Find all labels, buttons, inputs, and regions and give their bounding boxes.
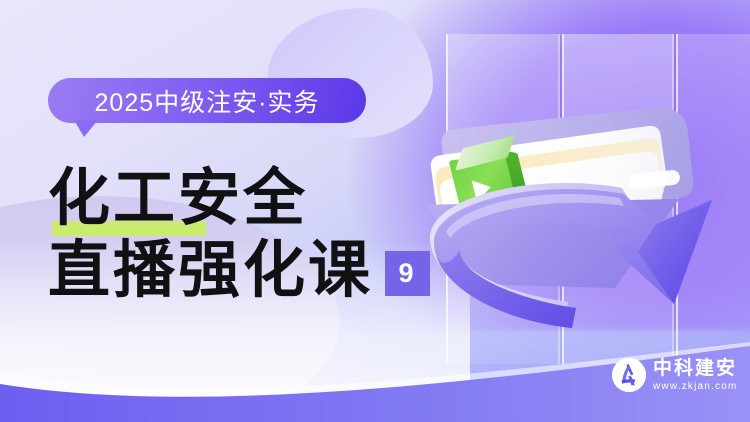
person-circle-logo-icon [612,358,646,392]
course-category-badge: 2025中级注安·实务 [48,78,366,123]
logo-text-group: 中科建安 www.zkjan.com [653,359,738,392]
title-line-2: 直播强化课 [48,235,373,307]
title-line-1-wrapper: 化工安全 [48,163,464,235]
title-line-2-wrapper: 直播强化课 9 [48,235,464,307]
page-title: 化工安全 直播强化课 9 [44,163,464,307]
title-line-1: 化工安全 [48,164,308,233]
logo-company-name: 中科建安 [653,359,738,378]
curved-3d-arrow-icon [416,176,736,346]
brand-logo: 中科建安 www.zkjan.com [612,358,738,392]
course-promo-banner: 2025中级注安·实务 化工安全 直播强化课 9 中科建安 www.zkjan.… [0,0,750,422]
episode-number-badge: 9 [385,251,430,296]
logo-website-url: www.zkjan.com [653,382,738,392]
badge-tail-pointer [74,120,98,137]
badge-label: 2025中级注安·实务 [95,83,320,119]
